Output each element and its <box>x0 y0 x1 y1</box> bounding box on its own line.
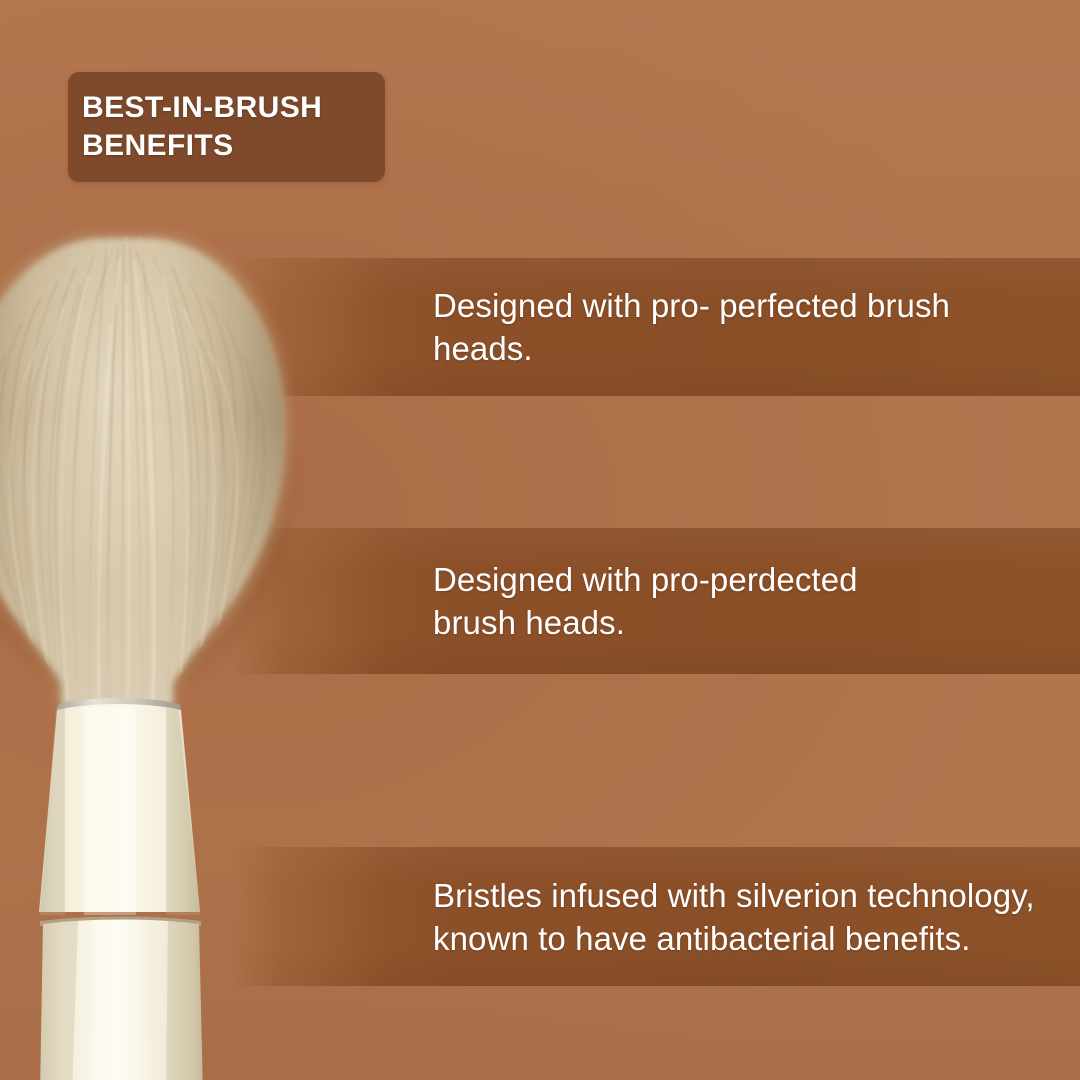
bristle-strokes <box>0 236 266 701</box>
benefit-text-3: Bristles infused with silverion technolo… <box>433 874 1035 960</box>
benefit-text-2: Designed with pro-perdected brush heads. <box>433 558 858 644</box>
brush-ferrule <box>39 698 206 918</box>
ferrule-ring <box>57 698 181 712</box>
brush-handle <box>40 920 203 1080</box>
benefit-band-3: Bristles infused with silverion technolo… <box>233 847 1080 986</box>
benefit-text-1: Designed with pro- perfected brush heads… <box>433 284 950 370</box>
ferrule-body <box>39 704 200 912</box>
product-benefits-poster: Designed with pro- perfected brush heads… <box>0 0 1080 1080</box>
handle-seam <box>40 917 201 927</box>
benefit-band-1: Designed with pro- perfected brush heads… <box>233 258 1080 396</box>
benefit-band-2: Designed with pro-perdected brush heads. <box>233 528 1080 674</box>
page-title: BEST-IN-BRUSH BENEFITS <box>82 89 322 165</box>
title-badge: BEST-IN-BRUSH BENEFITS <box>68 72 385 182</box>
